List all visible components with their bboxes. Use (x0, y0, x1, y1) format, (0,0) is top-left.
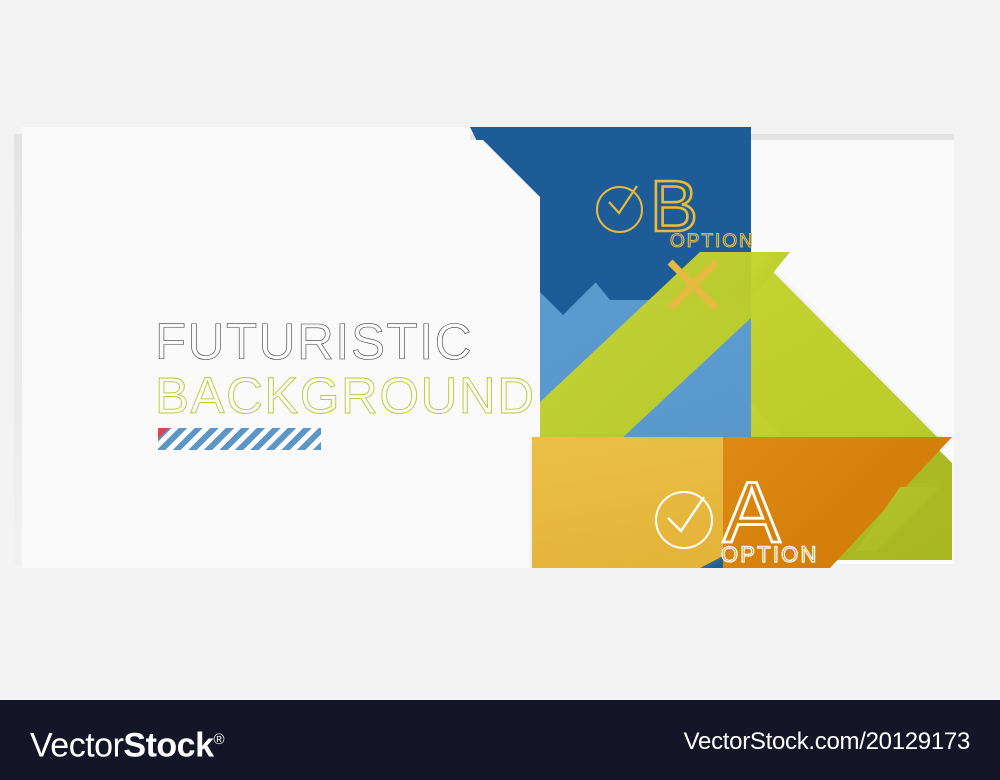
right-margin-mask (954, 0, 1000, 700)
accent-stripe-bar (158, 428, 321, 450)
option-b-group[interactable]: B OPTION (596, 178, 746, 258)
artwork-canvas: FUTURISTIC BACKGROUND B OPTION A OPTION (0, 0, 1000, 700)
watermark-footer: VectorStock® VectorStock.com/20129173 (0, 700, 1000, 780)
logo-suffix: Stock (123, 726, 213, 764)
watermark-url: VectorStock.com/20129173 (684, 728, 970, 756)
headline-line-1: FUTURISTIC (155, 316, 515, 368)
option-a-sublabel: OPTION (721, 544, 819, 566)
check-circle-icon-a[interactable] (655, 491, 713, 549)
option-a-group[interactable]: A OPTION (655, 486, 835, 576)
headline-line-2: BACKGROUND (155, 368, 515, 424)
headline-block: FUTURISTIC BACKGROUND (155, 316, 515, 424)
logo-prefix: Vector (30, 726, 123, 764)
accent-red-corner (158, 428, 169, 439)
option-b-sublabel: OPTION (670, 232, 755, 251)
below-card-mask (0, 568, 1000, 700)
screenshot-stage: FUTURISTIC BACKGROUND B OPTION A OPTION … (0, 0, 1000, 780)
check-circle-icon-b[interactable] (596, 186, 643, 233)
left-margin-mask (0, 0, 14, 700)
above-card-mask (0, 0, 1000, 127)
vectorstock-logo: VectorStock® (30, 720, 224, 765)
card-top-mask (22, 127, 470, 140)
registered-mark-icon: ® (213, 731, 224, 748)
